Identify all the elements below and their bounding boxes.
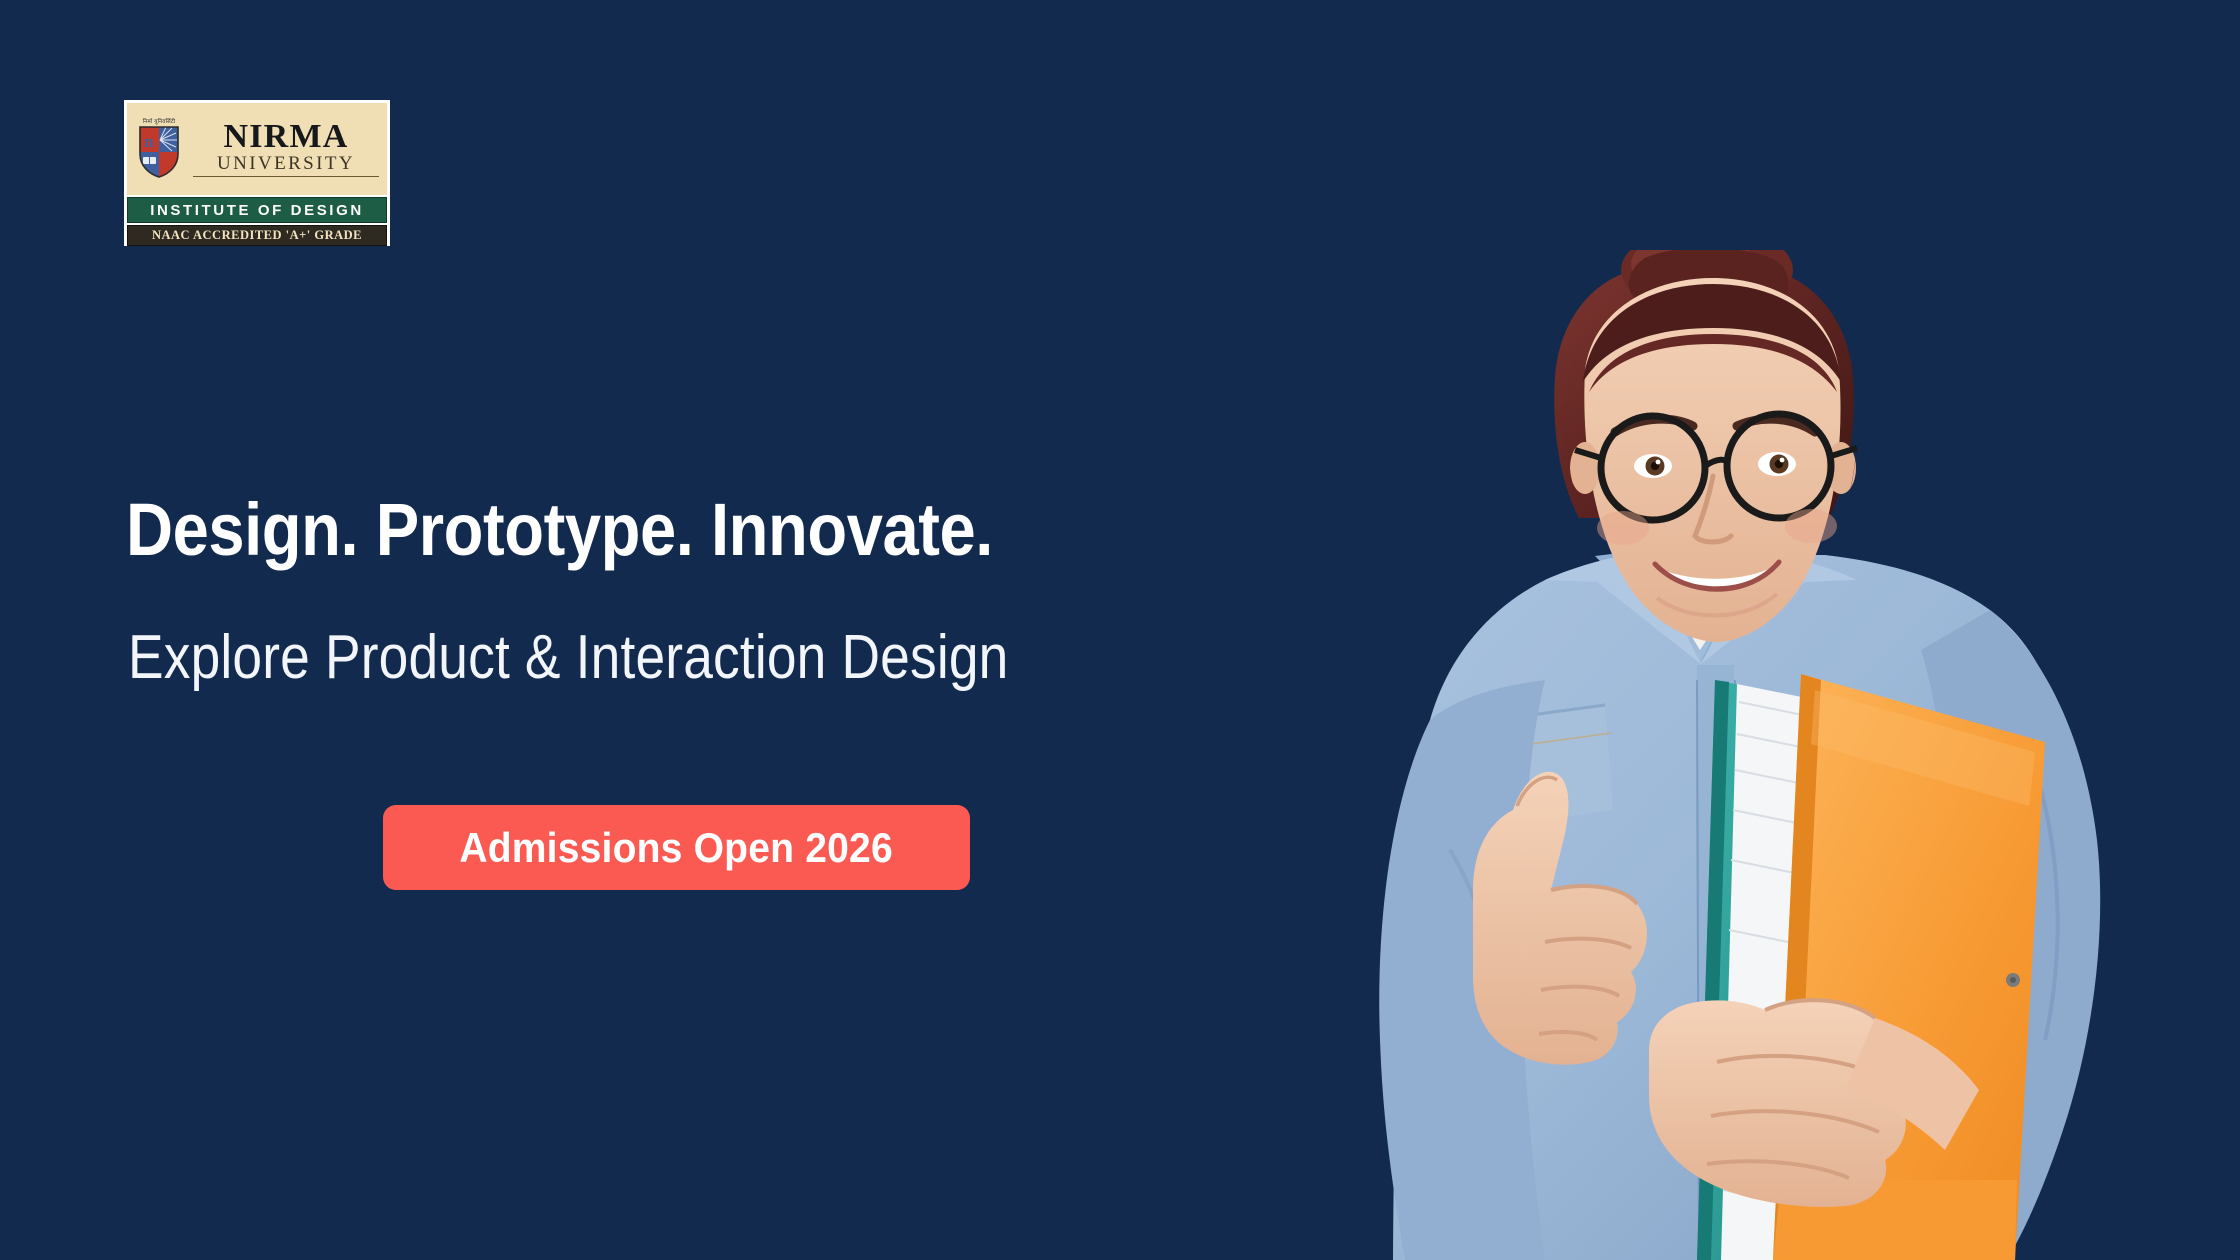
logo-band-naac: NAAC ACCREDITED 'A+' GRADE <box>127 225 387 246</box>
logo-underline-rule <box>193 176 379 178</box>
hero-subheadline: Explore Product & Interaction Design <box>128 622 1009 693</box>
admissions-open-button[interactable]: Admissions Open 2026 <box>383 805 970 890</box>
university-crest-icon: n u <box>139 126 179 178</box>
logo-wordmark: NIRMA UNIVERSITY <box>185 121 383 177</box>
logo-band-institute-of-design: INSTITUTE OF DESIGN <box>127 197 387 224</box>
logo-title-nirma: NIRMA <box>224 121 349 152</box>
logo-inner: निर्मा यूनिवर्सिटी <box>127 103 387 243</box>
hero-headline: Design. Prototype. Innovate. <box>126 487 993 572</box>
svg-text:n: n <box>144 132 154 151</box>
admissions-open-label: Admissions Open 2026 <box>460 824 894 872</box>
student-photo <box>1245 250 2125 1260</box>
crest-devanagari-text: निर्मा यूनिवर्सिटी <box>143 120 176 126</box>
hero-banner: निर्मा यूनिवर्सिटी <box>0 0 2240 1260</box>
logo-band-naac-label: NAAC ACCREDITED 'A+' GRADE <box>152 228 362 243</box>
logo-title-university: UNIVERSITY <box>217 154 355 173</box>
crest-wrap: निर्मा यूनिवर्सिटी <box>133 120 185 179</box>
logo-title-panel: निर्मा यूनिवर्सिटी <box>127 103 387 195</box>
logo-band-institute-label: INSTITUTE OF DESIGN <box>150 202 364 219</box>
nirma-university-logo[interactable]: निर्मा यूनिवर्सिटी <box>124 100 390 246</box>
